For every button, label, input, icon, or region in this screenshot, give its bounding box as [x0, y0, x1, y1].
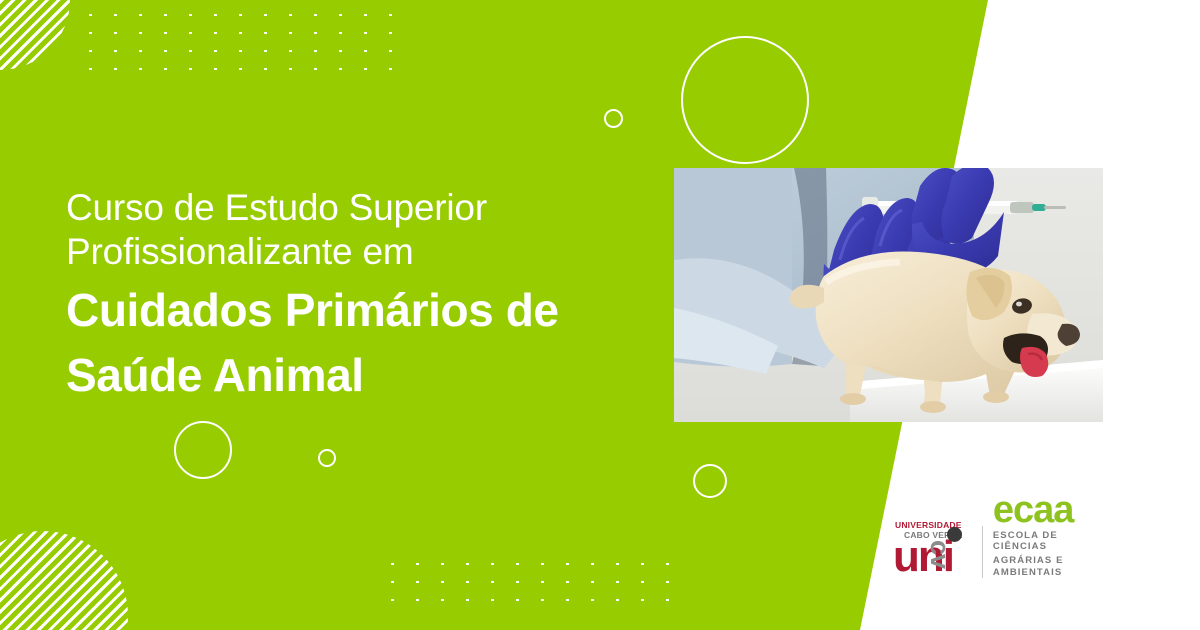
institution-logos: UNIVERSIDADE CABO VERDE uni cv ecaa ESCO… — [893, 513, 1108, 581]
outline-circle-large-top-icon — [681, 36, 809, 164]
outline-circle-middle-icon — [693, 464, 727, 498]
ecaa-wordmark: ecaa — [993, 493, 1108, 528]
dot-grid-top-icon — [78, 6, 398, 70]
course-title-line-1: Curso de Estudo Superior — [66, 186, 646, 230]
veterinary-photo — [674, 168, 1103, 422]
unicv-logo: UNIVERSIDADE CABO VERDE uni cv — [893, 519, 970, 581]
logo-divider — [982, 526, 983, 578]
ecaa-subtitle-line-2: AGRÁRIAS E AMBIENTAIS — [993, 555, 1108, 579]
veterinary-photo-illustration — [674, 168, 1103, 422]
course-title-line-4: Saúde Animal — [66, 348, 646, 402]
outline-circle-large-left-icon — [174, 421, 232, 479]
course-promo-banner: Curso de Estudo Superior Profissionaliza… — [0, 0, 1200, 630]
course-title: Curso de Estudo Superior Profissionaliza… — [66, 186, 646, 402]
ecaa-logo: ecaa ESCOLA DE CIÊNCIAS AGRÁRIAS E AMBIE… — [993, 493, 1108, 581]
dot-grid-bottom-icon — [380, 555, 675, 617]
outline-circle-small-top-icon — [604, 109, 623, 128]
outline-circle-small-left-icon — [318, 449, 336, 467]
course-title-line-3: Cuidados Primários de — [66, 283, 646, 337]
course-title-line-2: Profissionalizante em — [66, 230, 646, 274]
ecaa-subtitle-line-1: ESCOLA DE CIÊNCIAS — [993, 530, 1108, 554]
unicv-cv-suffix: cv — [926, 540, 953, 568]
